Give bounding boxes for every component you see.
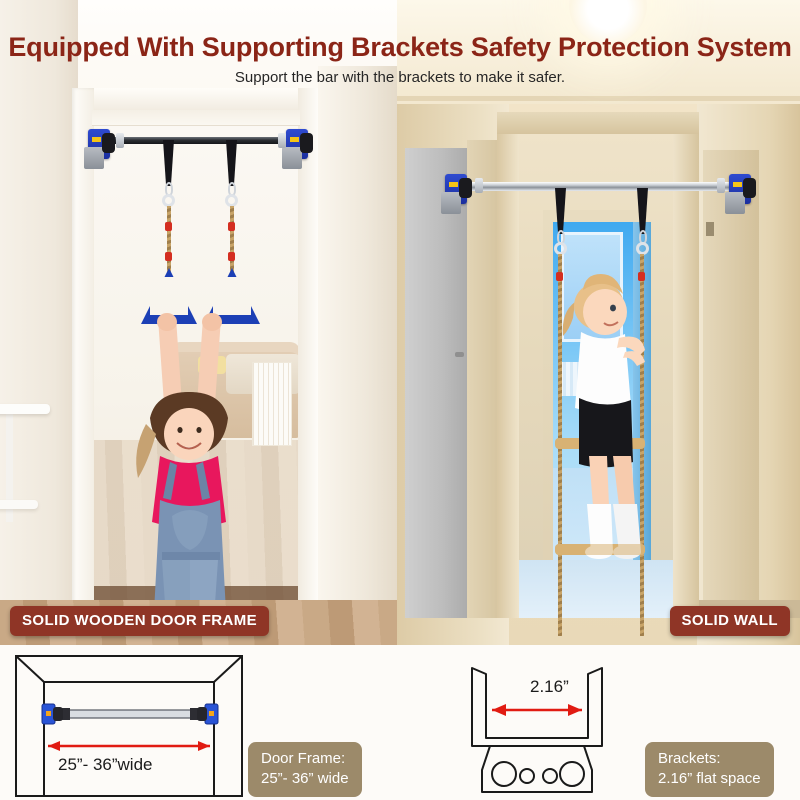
product-infographic: SOLID WOODEN DOOR FRAME SOLID WALL Equip… — [0, 0, 800, 800]
bracket-measure-label: 2.16” — [530, 677, 569, 697]
photo-band: SOLID WOODEN DOOR FRAME SOLID WALL — [0, 0, 800, 645]
child-climbing-illustration — [397, 0, 800, 645]
door-frame-drawing — [12, 650, 262, 800]
info-badge-door-frame-line1: Door Frame: — [261, 749, 349, 769]
photo-right-solid-wall — [397, 0, 800, 645]
open-door-panel — [318, 66, 397, 645]
info-badge-door-frame: Door Frame: 25”- 36” wide — [248, 742, 362, 797]
bracket-drawing — [462, 650, 662, 800]
tag-solid-wooden-door-frame: SOLID WOODEN DOOR FRAME — [10, 606, 269, 636]
info-badge-door-frame-line2: 25”- 36” wide — [261, 769, 349, 789]
door-frame-measure-label: 25”- 36”wide — [58, 755, 153, 775]
info-badge-brackets-line1: Brackets: — [658, 749, 761, 769]
page-subtitle: Support the bar with the brackets to mak… — [0, 69, 800, 86]
photo-left-door-frame — [0, 0, 397, 645]
tag-solid-wall: SOLID WALL — [670, 606, 791, 636]
info-badge-brackets: Brackets: 2.16” flat space — [645, 742, 774, 797]
info-badge-brackets-line2: 2.16” flat space — [658, 769, 761, 789]
page-title: Equipped With Supporting Brackets Safety… — [0, 32, 800, 63]
